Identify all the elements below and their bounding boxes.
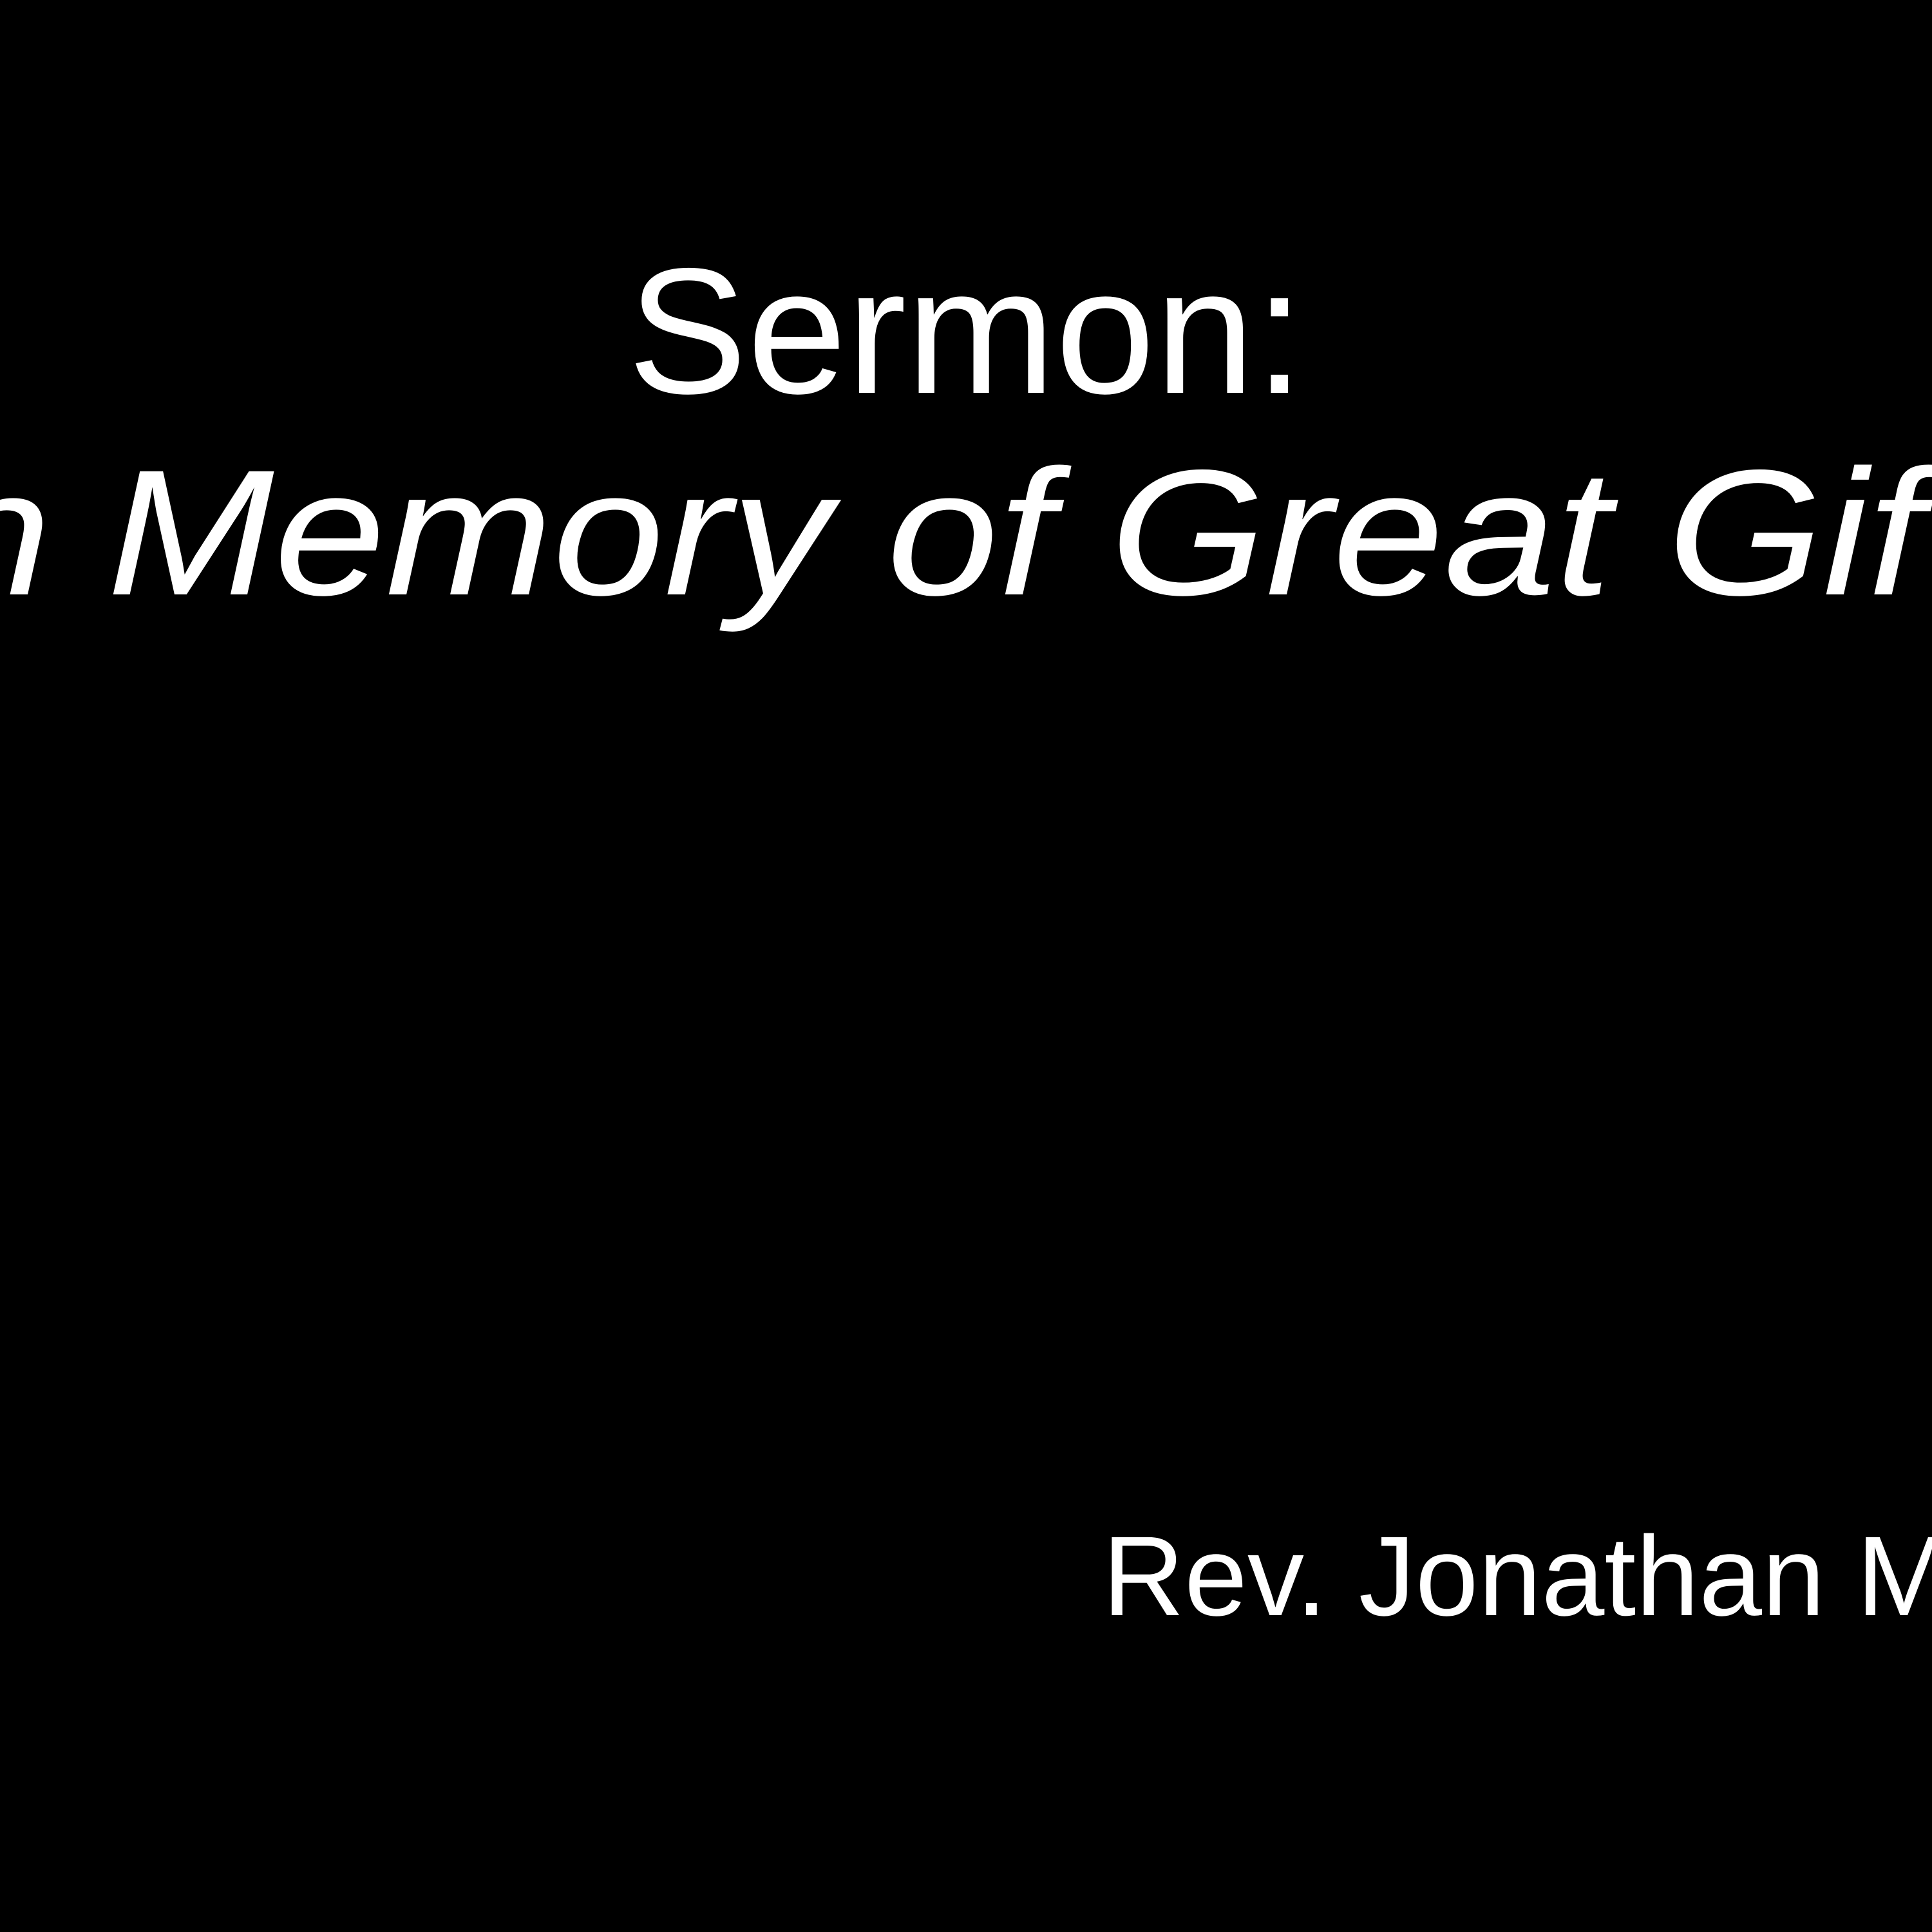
slide-title-line-1: Sermon: [0,241,1932,421]
slide-title-line-2: In Memory of Great Gifts [0,443,1932,622]
presentation-slide: Sermon: In Memory of Great Gifts Rev. Jo… [0,0,1932,1932]
slide-byline-presenter-name: Rev. Jonathan M [1103,1520,1932,1633]
slide-title-block: Sermon: In Memory of Great Gifts [0,0,1932,670]
